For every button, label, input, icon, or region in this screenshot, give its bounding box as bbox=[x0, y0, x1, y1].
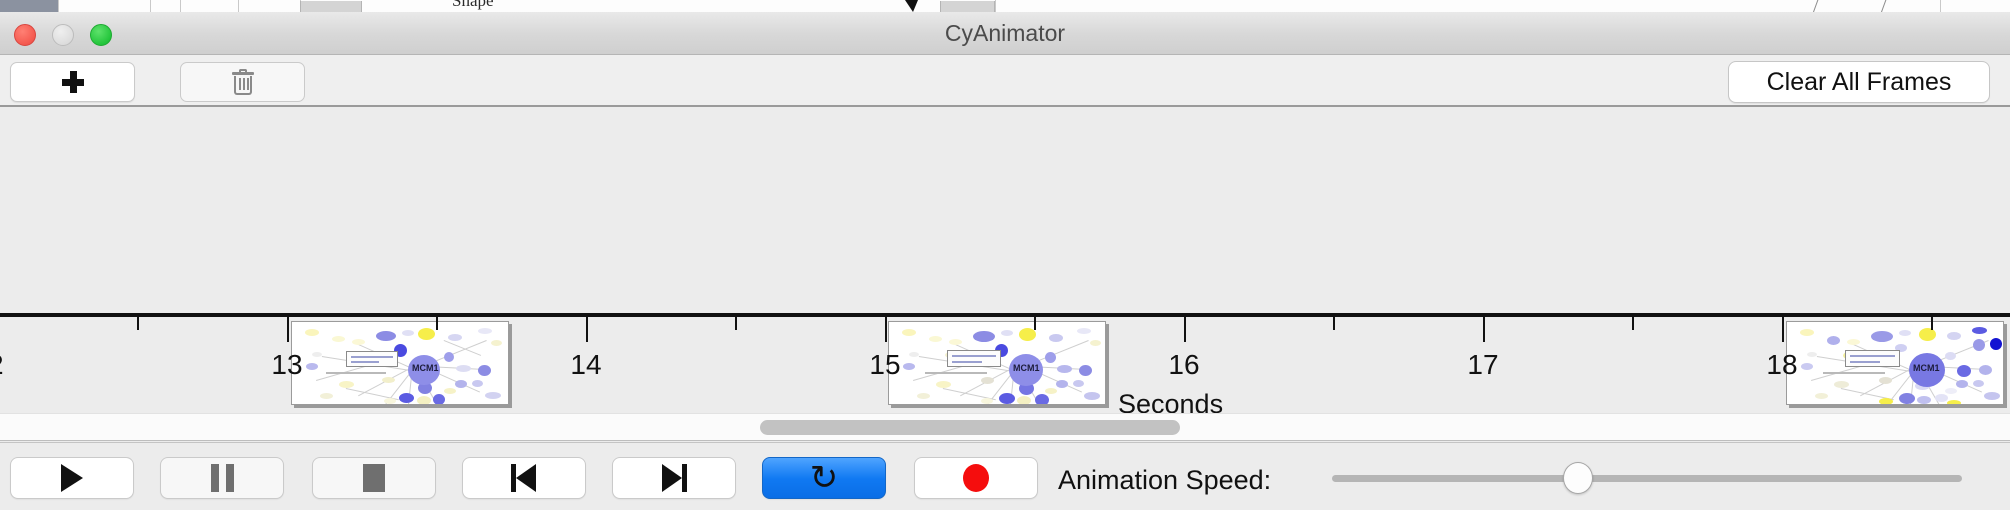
record-button[interactable] bbox=[914, 457, 1038, 499]
tick-label-16: 16 bbox=[1168, 349, 1199, 381]
plus-icon bbox=[62, 71, 84, 93]
animation-speed-label: Animation Speed: bbox=[1058, 465, 1271, 496]
slider-thumb[interactable] bbox=[1563, 462, 1593, 494]
frame-toolbar: Clear All Frames bbox=[0, 55, 2010, 107]
pause-icon bbox=[211, 464, 234, 492]
animation-speed-slider[interactable] bbox=[1332, 462, 1962, 494]
stop-icon bbox=[363, 464, 385, 492]
skip-back-icon bbox=[511, 464, 537, 492]
add-frame-button[interactable] bbox=[10, 62, 135, 102]
timeline-panel[interactable]: MCM1 bbox=[0, 109, 2010, 413]
window-title: CyAnimator bbox=[0, 12, 2010, 55]
slider-track[interactable] bbox=[1332, 475, 1962, 482]
record-icon bbox=[963, 464, 989, 492]
cyanimator-window: Shape CyAnimator Clear All Frames bbox=[0, 0, 2010, 510]
play-icon bbox=[61, 464, 83, 492]
stop-button[interactable] bbox=[312, 457, 436, 499]
tick-label-14: 14 bbox=[570, 349, 601, 381]
scrollbar-thumb[interactable] bbox=[760, 420, 1180, 435]
tick-label-13: 13 bbox=[271, 349, 302, 381]
timeline-scrollbar[interactable] bbox=[0, 413, 2010, 441]
tick-label-17: 17 bbox=[1467, 349, 1498, 381]
trash-icon bbox=[232, 69, 254, 95]
timeline-ruler: 12 13 14 15 16 17 18 Seconds bbox=[0, 313, 2010, 413]
skip-forward-icon bbox=[661, 464, 687, 492]
skip-start-button[interactable] bbox=[462, 457, 586, 499]
skip-end-button[interactable] bbox=[612, 457, 736, 499]
background-window-text: Shape bbox=[452, 0, 494, 11]
delete-frame-button[interactable] bbox=[180, 62, 305, 102]
loop-icon: ↻ bbox=[810, 461, 839, 495]
tick-label-12: 12 bbox=[0, 349, 4, 381]
tick-label-18: 18 bbox=[1766, 349, 1797, 381]
background-window-strip: Shape bbox=[0, 0, 2010, 12]
play-button[interactable] bbox=[10, 457, 134, 499]
title-bar: CyAnimator bbox=[0, 12, 2010, 55]
tick-label-15: 15 bbox=[869, 349, 900, 381]
axis-caption-seconds: Seconds bbox=[1118, 389, 1223, 413]
clear-all-frames-button[interactable]: Clear All Frames bbox=[1728, 61, 1990, 103]
playback-control-bar: ↻ Animation Speed: bbox=[0, 442, 2010, 510]
loop-button[interactable]: ↻ bbox=[762, 457, 886, 499]
pause-button[interactable] bbox=[160, 457, 284, 499]
